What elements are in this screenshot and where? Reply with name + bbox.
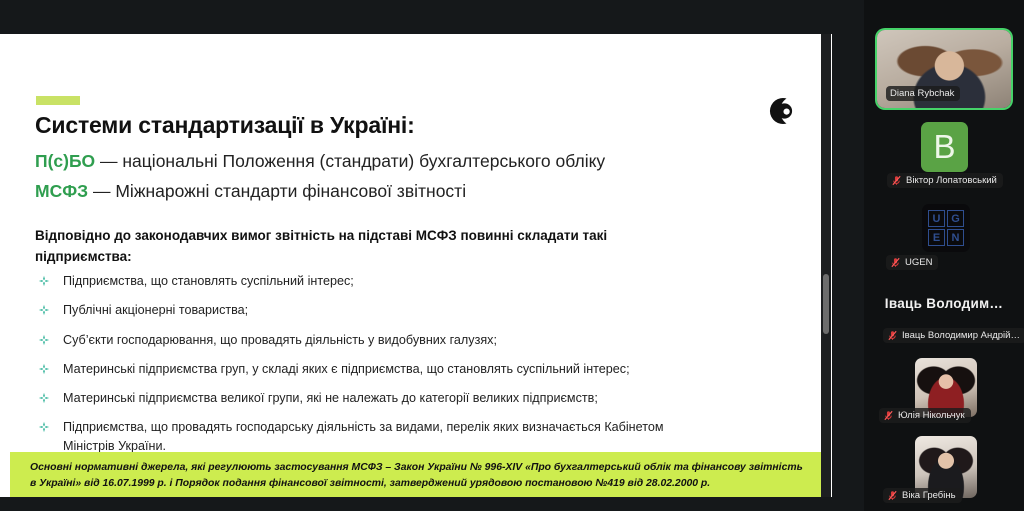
mic-muted-icon [887, 490, 898, 501]
definition-abbr: П(с)БО [35, 151, 95, 171]
participant-name: UGEN [905, 257, 932, 268]
slide-scrollbar-track[interactable] [821, 34, 831, 497]
slide-scrollbar-thumb[interactable] [823, 274, 829, 334]
shared-screen-stage[interactable]: Системи стандартизації в Україні: П(с)БО… [0, 0, 864, 511]
list-item: Материнські підприємства великої групи, … [35, 389, 715, 407]
participant-name: Віка Гребінь [902, 490, 956, 501]
participant-nameplate: Diana Rybchak [886, 86, 960, 101]
mic-muted-icon [890, 257, 901, 268]
participant-tile-ugen[interactable]: U G E N UGEN [864, 204, 1024, 274]
diamond-bullet-icon [38, 362, 50, 374]
participant-nameplate: Юлія Нікольчук [879, 408, 971, 423]
bullet-list: Підприємства, що становлять суспільний і… [35, 272, 715, 466]
baker-tilly-logo [763, 94, 797, 128]
list-item-text: Підприємства, що провадять господарську … [63, 420, 664, 452]
participant-rail[interactable]: Diana Rybchak B Віктор Лопатовський [864, 0, 1024, 511]
list-item-text: Суб’єкти господарювання, що провадять ді… [63, 333, 497, 347]
avatar-letter: B [921, 122, 968, 172]
callout-box: Основні нормативні джерела, які регулюют… [10, 452, 822, 497]
participant-tile-ivats-volodymyr[interactable]: Іваць Володим… Іваць Володимир Андрій… [864, 286, 1024, 356]
participant-name: Юлія Нікольчук [898, 410, 965, 421]
participant-tile-viktor-lopatovskyi[interactable]: B Віктор Лопатовський [864, 122, 1024, 194]
mic-muted-icon [883, 410, 894, 421]
list-item-text: Підприємства, що становлять суспільний і… [63, 274, 354, 288]
list-item-text: Материнські підприємства груп, у складі … [63, 362, 630, 376]
participant-nameplate: Іваць Володимир Андрій… [883, 328, 1024, 343]
participant-tile-yuliia-nikolchuk[interactable]: Юлія Нікольчук [864, 358, 1024, 432]
definition-line-pbo: П(с)БО — національні Положення (стандрат… [35, 151, 605, 172]
ugen-letter: N [947, 229, 964, 246]
slide-lead-paragraph: Відповідно до законодавчих вимог звітніс… [35, 226, 707, 268]
presentation-slide: Системи стандартизації в Україні: П(с)БО… [0, 34, 832, 497]
definition-text: — національні Положення (стандрати) бухг… [95, 151, 605, 171]
list-item: Публічні акціонерні товариства; [35, 301, 715, 319]
participant-nameplate: Віка Гребінь [883, 488, 962, 503]
list-item-text: Материнські підприємства великої групи, … [63, 391, 598, 405]
avatar[interactable]: B [921, 122, 968, 172]
participant-nameplate: Віктор Лопатовський [887, 173, 1003, 188]
meeting-window: Системи стандартизації в Україні: П(с)БО… [0, 0, 1024, 511]
logo-thumbnail[interactable]: U G E N [922, 204, 970, 252]
callout-text: Основні нормативні джерела, які регулюют… [30, 460, 808, 491]
list-item: Материнські підприємства груп, у складі … [35, 360, 715, 378]
ugen-letter: E [928, 229, 945, 246]
diamond-bullet-icon [38, 391, 50, 403]
list-item: Суб’єкти господарювання, що провадять ді… [35, 331, 715, 349]
diamond-bullet-icon [38, 420, 50, 432]
participant-name: Іваць Володимир Андрій… [902, 330, 1020, 341]
slide-title: Системи стандартизації в Україні: [35, 112, 415, 139]
list-item: Підприємства, що провадять господарську … [35, 418, 715, 455]
diamond-bullet-icon [38, 274, 50, 286]
diamond-bullet-icon [38, 333, 50, 345]
participant-tile-diana-rybchak[interactable]: Diana Rybchak [864, 30, 1024, 110]
definition-abbr: МСФЗ [35, 181, 88, 201]
ugen-letter: U [928, 210, 945, 227]
participant-tile-vika-hrebin[interactable]: Віка Гребінь [864, 436, 1024, 511]
list-item: Підприємства, що становлять суспільний і… [35, 272, 715, 290]
participant-name: Diana Rybchak [890, 88, 954, 99]
definition-line-msfz: МСФЗ — Міжнарожні стандарти фінансової з… [35, 181, 466, 202]
participant-name: Віктор Лопатовський [906, 175, 997, 186]
participant-nameplate: UGEN [886, 255, 938, 270]
list-item-text: Публічні акціонерні товариства; [63, 303, 248, 317]
participant-headline-name: Іваць Володим… [864, 296, 1024, 311]
ugen-logo-icon: U G E N [922, 204, 970, 252]
mic-muted-icon [891, 175, 902, 186]
mic-muted-icon [887, 330, 898, 341]
title-accent-bar [36, 96, 80, 105]
definition-text: — Міжнарожні стандарти фінансової звітно… [88, 181, 466, 201]
ugen-letter: G [947, 210, 964, 227]
diamond-bullet-icon [38, 303, 50, 315]
